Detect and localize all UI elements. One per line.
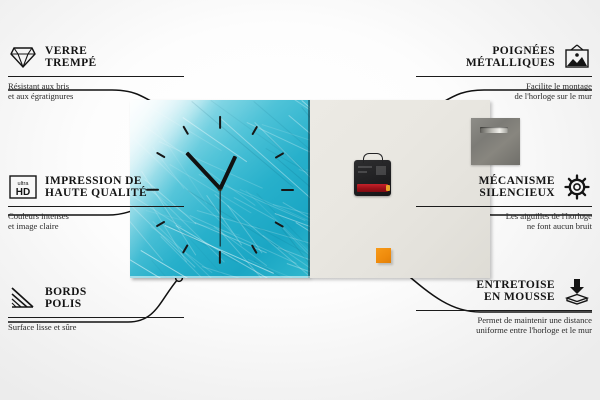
second-hand	[219, 189, 220, 247]
feature-mecanisme-silencieux: MÉCANISME SILENCIEUX Les aiguilles de l'…	[416, 172, 592, 232]
hour-marker	[281, 189, 294, 191]
feature-poignees-metalliques: POIGNÉES MÉTALLIQUES Facilite le montage…	[416, 42, 592, 102]
feature-description: Les aiguilles de l'horloge ne font aucun…	[416, 211, 592, 232]
feature-title: MÉCANISME SILENCIEUX	[479, 175, 555, 200]
hour-marker	[156, 152, 165, 158]
hour-marker	[251, 245, 257, 254]
hanger-plate	[471, 118, 520, 165]
press-down-icon	[562, 276, 592, 306]
movement-detail	[376, 166, 386, 175]
feature-header: MÉCANISME SILENCIEUX	[416, 172, 592, 202]
feature-title: IMPRESSION DE HAUTE QUALITÉ	[45, 175, 147, 200]
hour-marker	[219, 116, 221, 129]
movement-detail	[358, 171, 367, 173]
ultra-hd-icon: ultra HD	[8, 172, 38, 202]
feature-header: POIGNÉES MÉTALLIQUES	[416, 42, 592, 72]
divider	[416, 76, 592, 77]
infographic-canvas: VERRE TREMPÉ Résistant aux bris et aux é…	[0, 0, 600, 400]
polished-edge-icon	[8, 283, 38, 313]
feature-description: Permet de maintenir une distance uniform…	[416, 315, 592, 336]
feature-description: Couleurs intenses et image claire	[8, 211, 184, 232]
clock-movement	[354, 160, 391, 196]
hour-marker	[182, 125, 188, 134]
keyhole-slot	[480, 127, 508, 133]
feature-entretoise-en-mousse: ENTRETOISE EN MOUSSE Permet de maintenir…	[416, 276, 592, 336]
minute-hand	[185, 152, 221, 190]
picture-hanger-icon	[562, 42, 592, 72]
divider	[8, 76, 184, 77]
foam-spacer	[376, 248, 391, 263]
hour-marker	[182, 245, 188, 254]
movement-detail	[358, 166, 372, 168]
hour-hand	[218, 156, 236, 190]
feature-impression-haute-qualite: ultra HD IMPRESSION DE HAUTE QUALITÉ Cou…	[8, 172, 184, 232]
feature-title: ENTRETOISE EN MOUSSE	[476, 279, 555, 304]
feature-bords-polis: BORDS POLIS Surface lisse et sûre	[8, 283, 184, 332]
feature-header: BORDS POLIS	[8, 283, 184, 313]
feature-header: ENTRETOISE EN MOUSSE	[416, 276, 592, 306]
hour-marker	[219, 251, 221, 264]
divider	[416, 206, 592, 207]
feature-header: ultra HD IMPRESSION DE HAUTE QUALITÉ	[8, 172, 184, 202]
movement-hook	[363, 153, 383, 163]
hour-marker	[275, 221, 284, 227]
hour-marker	[251, 125, 257, 134]
gear-icon	[562, 172, 592, 202]
feature-title: VERRE TREMPÉ	[45, 45, 97, 70]
divider	[8, 317, 184, 318]
svg-text:HD: HD	[16, 187, 30, 198]
divider	[8, 206, 184, 207]
divider	[416, 310, 592, 311]
battery	[357, 184, 388, 192]
hour-marker	[275, 152, 284, 158]
feature-title: BORDS POLIS	[45, 286, 87, 311]
feature-verre-trempe: VERRE TREMPÉ Résistant aux bris et aux é…	[8, 42, 184, 102]
feature-header: VERRE TREMPÉ	[8, 42, 184, 72]
diamond-icon	[8, 42, 38, 72]
feature-description: Surface lisse et sûre	[8, 322, 184, 332]
feature-title: POIGNÉES MÉTALLIQUES	[466, 45, 555, 70]
feature-description: Résistant aux bris et aux égratignures	[8, 81, 184, 102]
feature-description: Facilite le montage de l'horloge sur le …	[416, 81, 592, 102]
